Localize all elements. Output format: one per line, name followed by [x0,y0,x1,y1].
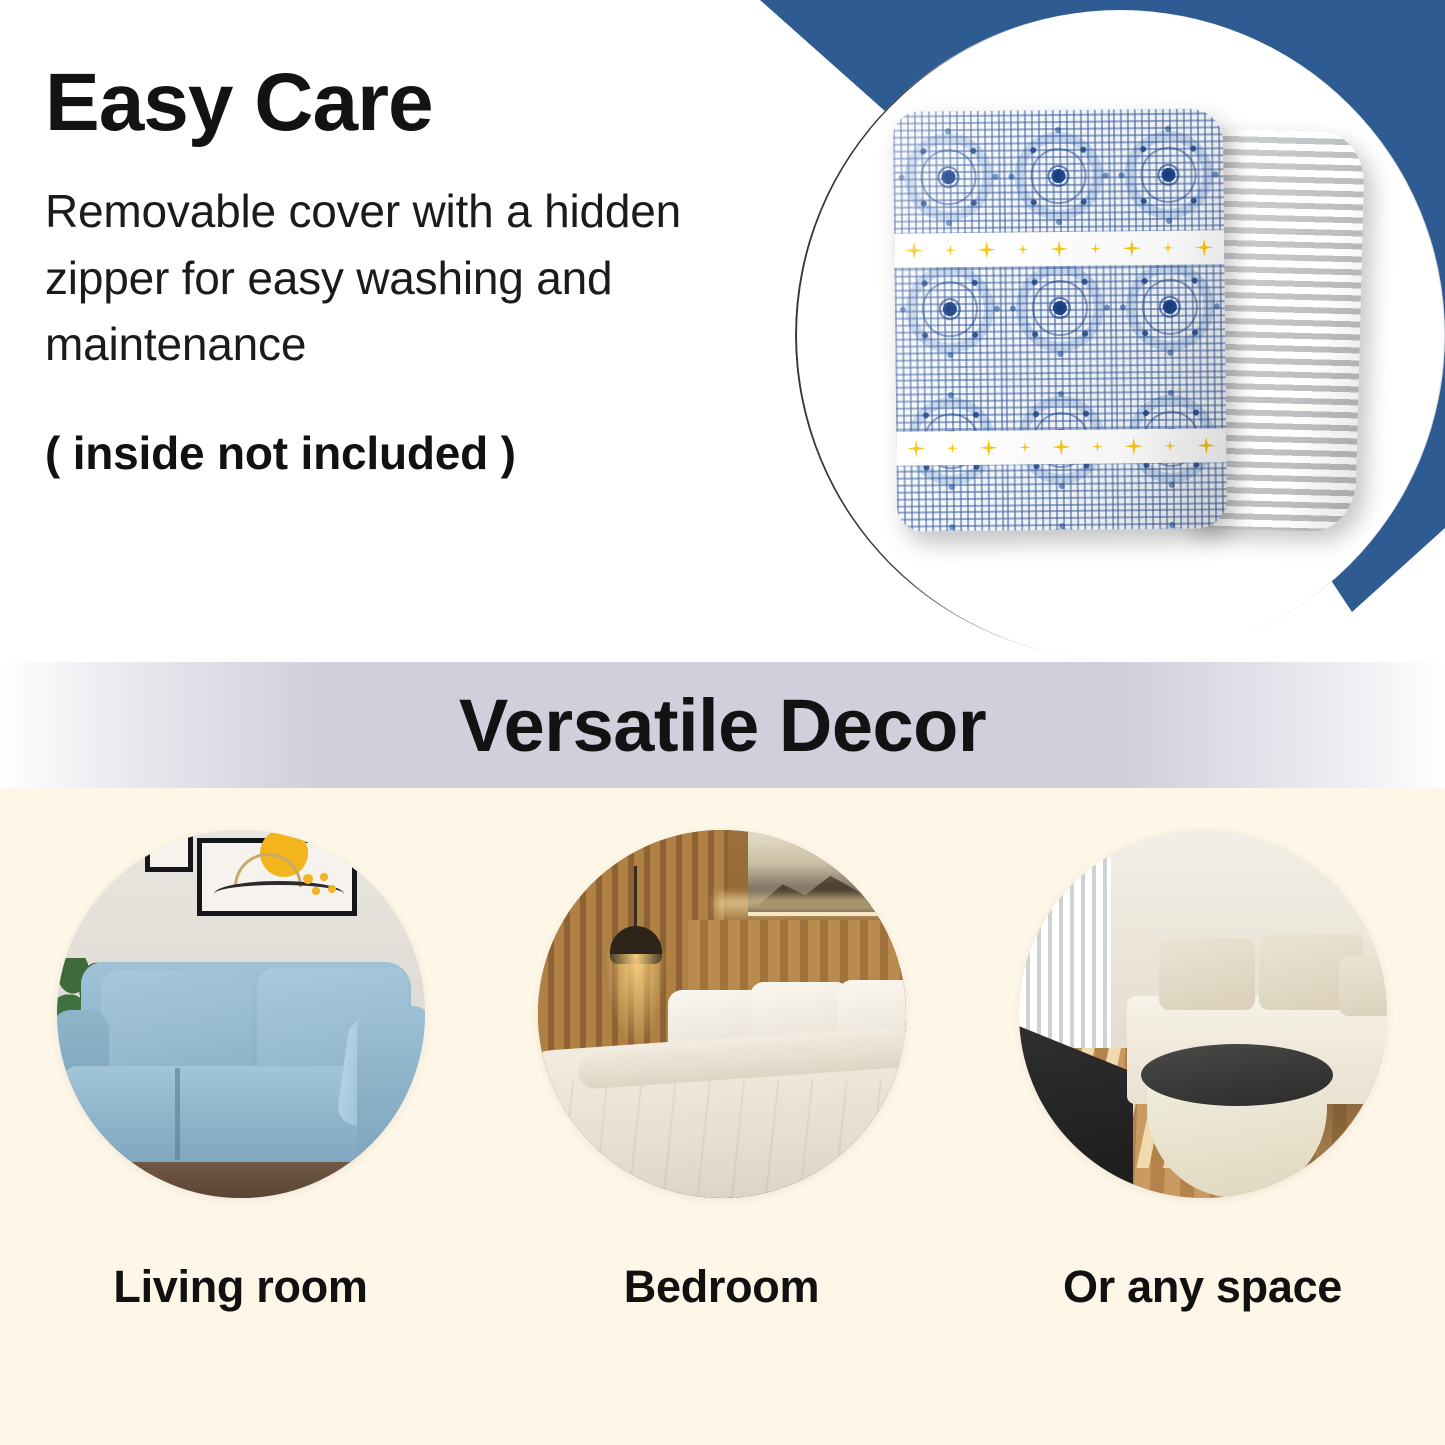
easy-care-text-block: Easy Care Removable cover with a hidden … [45,62,775,480]
room-card-list: Living room [0,830,1445,1313]
easy-care-section: Easy Care Removable cover with a hidden … [0,0,1445,665]
hero-product-circle [795,10,1445,660]
banner-title: Versatile Decor [459,683,986,768]
room-card-label: Bedroom [624,1261,819,1313]
pillow-pair [855,110,1395,560]
infographic-page: Easy Care Removable cover with a hidden … [0,0,1445,1445]
bedroom-photo [538,830,906,1198]
versatile-decor-banner: Versatile Decor [0,662,1445,788]
room-card-label: Or any space [1063,1261,1342,1313]
sofa-seat-divider [175,1068,180,1160]
pendant-cord [634,866,637,928]
room-card-bedroom: Bedroom [481,830,962,1313]
patterned-pillow-cover [893,108,1227,531]
page-title: Easy Care [45,62,775,144]
living-room-photo [57,830,425,1198]
room-card-label: Living room [113,1261,367,1313]
daybed-cushion [1159,938,1255,1010]
round-ottoman-top [1141,1044,1333,1106]
feature-description: Removable cover with a hidden zipper for… [45,178,765,378]
sofa-arm-right [357,1006,425,1166]
small-frame [145,830,193,872]
inclusion-note: ( inside not included ) [45,426,775,480]
art-dots-shape [302,873,338,899]
quilt-stitching [538,1080,906,1198]
room-card-living-room: Living room [0,830,481,1313]
wall-art-frame [197,838,357,916]
daybed-cushion [1339,956,1387,1016]
pillow-shading [893,108,1227,531]
any-space-photo [1019,830,1387,1198]
versatile-decor-section: Living room [0,788,1445,1445]
room-card-any-space: Or any space [962,830,1443,1313]
lamp-light-glow [606,954,666,1044]
